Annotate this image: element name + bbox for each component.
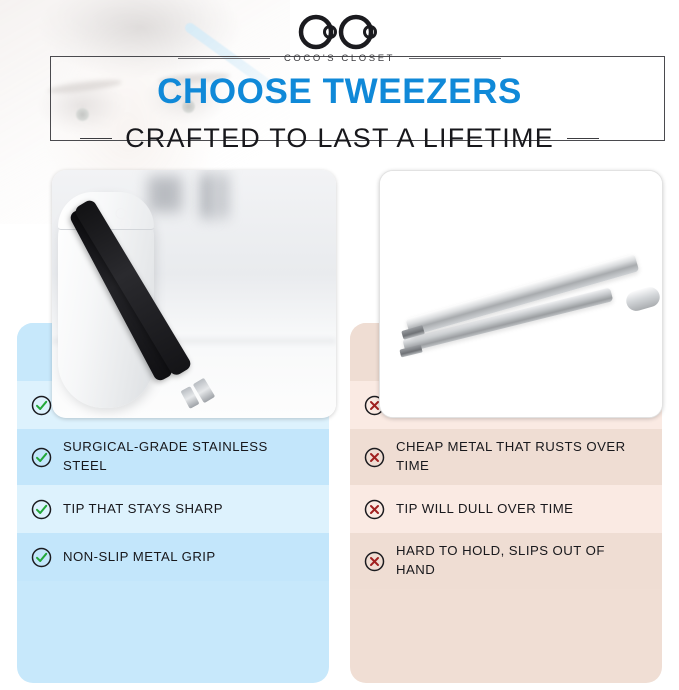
list-item-label: CHEAP METAL THAT RUSTS OVER TIME bbox=[396, 438, 648, 475]
coco-monogram-icon bbox=[280, 12, 400, 52]
product-image-others bbox=[379, 170, 663, 418]
subtitle-row: CRAFTED TO LAST A LIFETIME bbox=[0, 123, 679, 154]
check-circle-icon bbox=[31, 447, 52, 468]
background-blur-shape bbox=[218, 174, 227, 218]
list-item: TIP THAT STAYS SHARP bbox=[17, 485, 329, 533]
brand-logo: COCO'S CLOSET bbox=[0, 12, 679, 64]
list-item-label: HARD TO HOLD, SLIPS OUT OF HAND bbox=[396, 542, 648, 579]
check-circle-icon bbox=[31, 395, 52, 416]
list-item-label: TIP THAT STAYS SHARP bbox=[63, 500, 223, 519]
page-title: CHOOSE TWEEZERS bbox=[0, 72, 679, 112]
background-blur-shape bbox=[148, 176, 182, 212]
steel-tweezer-cap bbox=[624, 285, 662, 314]
list-item: SURGICAL-GRADE STAINLESS STEEL bbox=[17, 429, 329, 485]
list-item: HARD TO HOLD, SLIPS OUT OF HAND bbox=[350, 533, 662, 589]
list-item: NON-SLIP METAL GRIP bbox=[17, 533, 329, 581]
page-subtitle: CRAFTED TO LAST A LIFETIME bbox=[125, 123, 554, 154]
x-circle-icon bbox=[364, 551, 385, 572]
product-image-ours bbox=[52, 170, 336, 418]
list-item: TIP WILL DULL OVER TIME bbox=[350, 485, 662, 533]
brand-name: COCO'S CLOSET bbox=[284, 53, 395, 64]
check-circle-icon bbox=[31, 547, 52, 568]
background-blur-shape bbox=[202, 174, 212, 218]
list-item-label: SURGICAL-GRADE STAINLESS STEEL bbox=[63, 438, 315, 475]
subtitle-rule-left bbox=[80, 138, 112, 139]
ours-product-scene bbox=[52, 170, 336, 418]
others-product-scene bbox=[380, 171, 662, 417]
brand-rule-right bbox=[409, 58, 501, 59]
list-item-label: NON-SLIP METAL GRIP bbox=[63, 548, 216, 567]
x-circle-icon bbox=[364, 499, 385, 520]
infographic-page: COCO'S CLOSET CHOOSE TWEEZERS CRAFTED TO… bbox=[0, 0, 679, 690]
x-circle-icon bbox=[364, 447, 385, 468]
check-circle-icon bbox=[31, 499, 52, 520]
steel-tweezer-tip-back bbox=[399, 344, 422, 357]
brand-rule-left bbox=[178, 58, 270, 59]
subtitle-rule-right bbox=[567, 138, 599, 139]
brand-name-row: COCO'S CLOSET bbox=[0, 53, 679, 64]
list-item-label: TIP WILL DULL OVER TIME bbox=[396, 500, 573, 519]
list-item: CHEAP METAL THAT RUSTS OVER TIME bbox=[350, 429, 662, 485]
